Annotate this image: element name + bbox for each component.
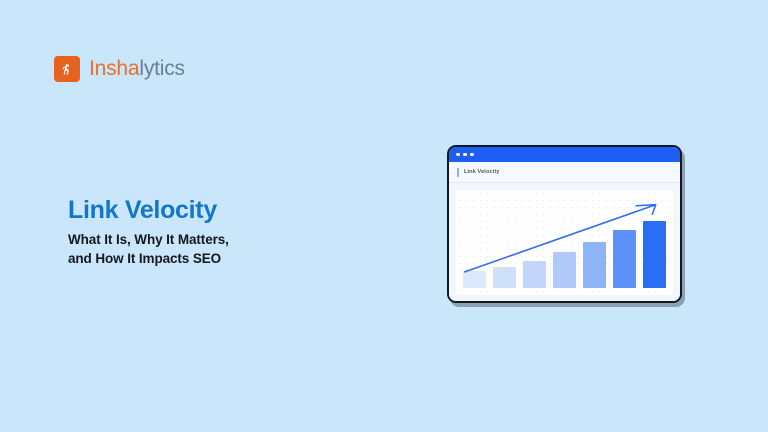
tab-label: Link Velocity (464, 169, 500, 175)
bar-chart-bars (463, 212, 666, 288)
bar-chart-bar (613, 230, 636, 288)
page-title: Link Velocity (68, 196, 217, 225)
browser-titlebar (449, 147, 680, 162)
bar-chart-bar (643, 221, 666, 288)
brand-wordmark-part-1: Insha (89, 57, 139, 80)
brand-wordmark: Inshalytics (89, 57, 185, 81)
window-dot-icon-1 (456, 153, 460, 157)
window-dot-icon-3 (470, 153, 474, 157)
bar-chart (456, 190, 673, 295)
page-subtitle-line-1: What It Is, Why It Matters, (68, 230, 229, 249)
bar-chart-bar (553, 252, 576, 288)
page-subtitle: What It Is, Why It Matters, and How It I… (68, 230, 229, 268)
browser-tabbar[interactable]: Link Velocity (449, 162, 680, 183)
tab-accent-bar-icon (457, 168, 459, 177)
brand-wordmark-part-2: lytics (139, 57, 184, 80)
browser-content-area (449, 183, 680, 302)
brand-logo: Inshalytics (54, 56, 185, 82)
inshalytics-mark-icon (54, 56, 80, 82)
page-subtitle-line-2: and How It Impacts SEO (68, 249, 229, 268)
bar-chart-bar (523, 261, 546, 288)
window-dot-icon-2 (463, 153, 467, 157)
bar-chart-bar (493, 267, 516, 288)
bar-chart-bar (583, 242, 606, 288)
bar-chart-bar (463, 271, 486, 288)
browser-window-mockup: Link Velocity (447, 145, 682, 303)
